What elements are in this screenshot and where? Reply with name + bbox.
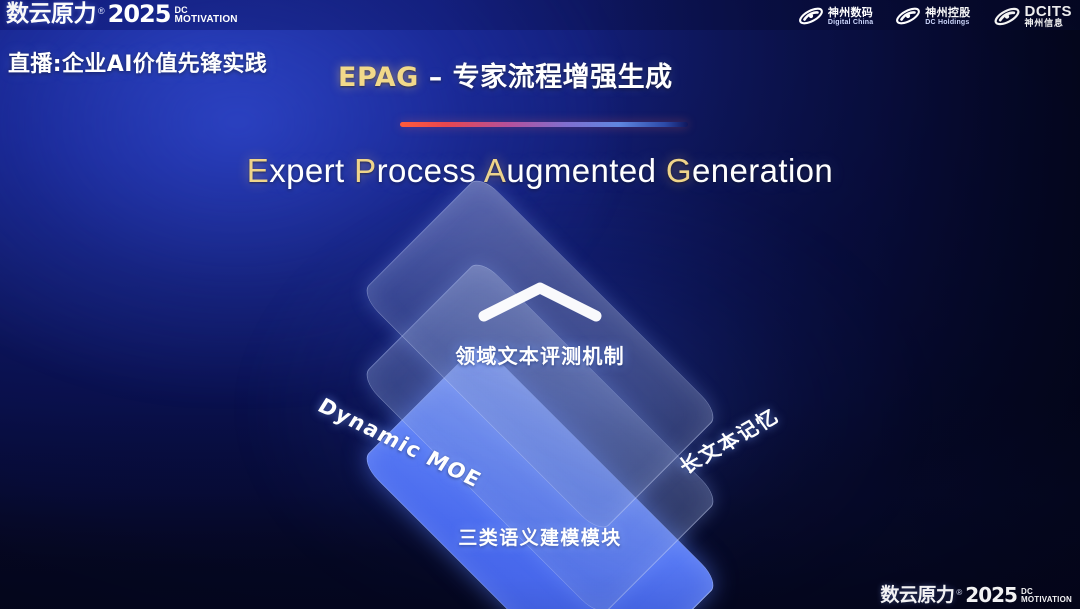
partner-text: 神州数码 Digital China xyxy=(828,7,873,26)
title-divider xyxy=(400,122,688,127)
title-en-rest-process: rocess xyxy=(377,152,484,189)
partner-name-en: DC Holdings xyxy=(925,19,970,26)
broadcast-subtitle: 直播:企业AI价值先锋实践 xyxy=(8,46,267,78)
title-acronym: EPAG xyxy=(338,62,419,93)
partner-logo-group: 神州数码 Digital China 神州控股 DC Holdings xyxy=(798,4,1072,29)
swirl-logo-icon xyxy=(798,5,824,27)
partner-name-en: 神州信息 xyxy=(1025,20,1073,29)
swirl-logo-icon xyxy=(895,5,921,27)
watermark-name-cn: 数云原力 xyxy=(880,586,954,605)
page-subtitle-english: Expert Process Augmented Generation xyxy=(0,152,1080,190)
partner-name-cn: 神州数码 xyxy=(828,7,873,18)
partner-logo-digital-china: 神州数码 Digital China xyxy=(798,5,873,27)
footer-watermark: 数云原力® 2025 DC MOTIVATION xyxy=(880,585,1072,605)
partner-logo-dc-holdings: 神州控股 DC Holdings xyxy=(895,5,970,27)
watermark-dc-motivation: DC MOTIVATION xyxy=(1021,588,1072,605)
title-en-cap-p: P xyxy=(354,152,376,189)
partner-name-en: Digital China xyxy=(828,19,873,26)
watermark-year: 2025 xyxy=(965,585,1017,605)
title-en-cap-e: E xyxy=(247,152,269,189)
partner-name-cn: DCITS xyxy=(1025,4,1073,20)
title-en-rest-expert: xpert xyxy=(269,152,354,189)
title-en-rest-augmented: ugmented xyxy=(506,152,666,189)
title-chinese: – 专家流程增强生成 xyxy=(419,62,673,93)
title-en-cap-g: G xyxy=(666,152,692,189)
brand-motivation-label: MOTIVATION xyxy=(174,15,237,25)
title-en-rest-generation: eneration xyxy=(692,152,833,189)
partner-text: 神州控股 DC Holdings xyxy=(925,7,970,26)
partner-text: DCITS 神州信息 xyxy=(1025,4,1073,29)
swirl-logo-icon xyxy=(993,5,1021,28)
brand-registered-mark: ® xyxy=(98,6,105,16)
page-title: EPAG – 专家流程增强生成 xyxy=(338,55,673,94)
brand-year: 2025 xyxy=(108,2,171,26)
brand-logo: 数云原力® 2025 DC MOTIVATION xyxy=(6,2,238,26)
brand-name-cn: 数云原力 xyxy=(6,3,96,26)
brand-dc-motivation: DC MOTIVATION xyxy=(174,6,237,26)
watermark-registered-mark: ® xyxy=(956,588,962,597)
layer-stack-diagram: 领域文本评测机制 Dynamic MOE 长文本记忆 三类语义建模模块 xyxy=(260,232,820,562)
slide-canvas: 数云原力® 2025 DC MOTIVATION 神州数码 Digital Ch… xyxy=(0,0,1080,609)
watermark-motivation-label: MOTIVATION xyxy=(1021,596,1072,604)
partner-logo-dcits: DCITS 神州信息 xyxy=(993,4,1073,29)
partner-name-cn: 神州控股 xyxy=(925,7,970,18)
